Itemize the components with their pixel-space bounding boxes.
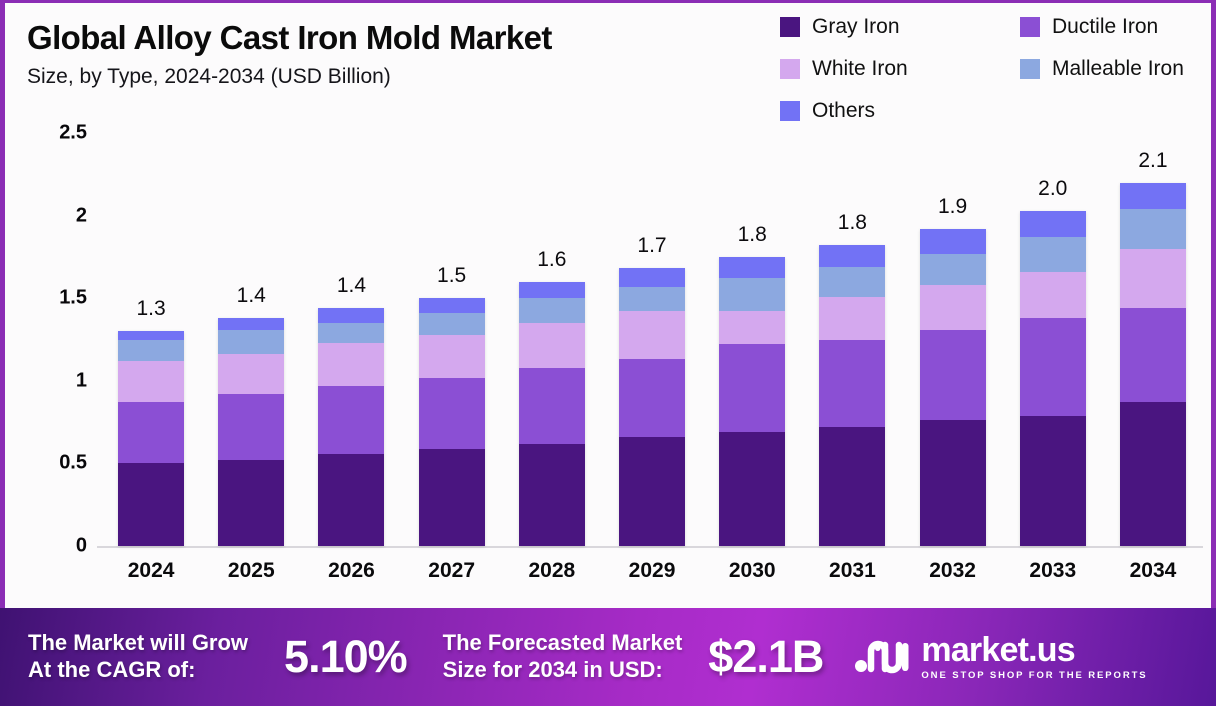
stacked-bar[interactable] [519, 282, 585, 546]
y-axis-tick-label: 1.5 [13, 287, 87, 310]
x-axis-line [97, 546, 1203, 548]
bar-segment-gray-iron[interactable] [1020, 416, 1086, 547]
bar-segment-white-iron[interactable] [218, 354, 284, 394]
bar-segment-malleable-iron[interactable] [419, 313, 485, 334]
bar-segment-malleable-iron[interactable] [1020, 237, 1086, 272]
bar-segment-malleable-iron[interactable] [719, 278, 785, 311]
bar-segment-others[interactable] [1020, 211, 1086, 237]
bar-segment-others[interactable] [819, 245, 885, 266]
bar-segment-malleable-iron[interactable] [318, 323, 384, 343]
x-axis-label-2027: 2027 [402, 559, 502, 583]
y-axis-tick-label: 2.5 [13, 122, 87, 145]
bar-segment-gray-iron[interactable] [920, 420, 986, 546]
x-axis-label-2026: 2026 [301, 559, 401, 583]
bar-segment-gray-iron[interactable] [318, 454, 384, 547]
x-axis-label-2034: 2034 [1103, 559, 1203, 583]
bar-segment-malleable-iron[interactable] [1120, 209, 1186, 249]
bar-segment-ductile-iron[interactable] [519, 368, 585, 444]
bar-group-2032[interactable]: 1.9 [903, 133, 1003, 546]
bar-segment-malleable-iron[interactable] [619, 287, 685, 312]
stacked-bar[interactable] [1120, 183, 1186, 546]
bar-segment-malleable-iron[interactable] [819, 267, 885, 297]
infographic-root: Global Alloy Cast Iron Mold Market Size,… [0, 0, 1216, 706]
stacked-bar[interactable] [920, 229, 986, 546]
bar-segment-ductile-iron[interactable] [1120, 308, 1186, 402]
bar-segment-others[interactable] [118, 331, 184, 339]
x-axis-label-2028: 2028 [502, 559, 602, 583]
bar-value-label: 1.8 [802, 211, 902, 235]
market-us-logo-text: market.us ONE STOP SHOP FOR THE REPORTS [921, 633, 1147, 681]
bar-segment-white-iron[interactable] [1020, 272, 1086, 318]
logo-tagline: ONE STOP SHOP FOR THE REPORTS [921, 670, 1147, 681]
bar-segment-malleable-iron[interactable] [920, 254, 986, 285]
plot-area: 00.511.522.5 1.31.41.41.51.61.71.81.81.9… [5, 3, 1211, 608]
bar-segment-white-iron[interactable] [519, 323, 585, 368]
bar-segment-gray-iron[interactable] [719, 432, 785, 546]
x-axis-label-2032: 2032 [903, 559, 1003, 583]
x-axis-labels: 2024202520262027202820292030203120322033… [101, 559, 1203, 583]
bar-segment-others[interactable] [920, 229, 986, 254]
chart-canvas: Global Alloy Cast Iron Mold Market Size,… [5, 3, 1211, 608]
bar-segment-malleable-iron[interactable] [118, 340, 184, 361]
stacked-bar[interactable] [719, 257, 785, 546]
bar-group-2031[interactable]: 1.8 [802, 133, 902, 546]
y-axis-tick-label: 0.5 [13, 452, 87, 475]
stacked-bar[interactable] [218, 318, 284, 546]
forecast-caption-line1: The Forecasted Market [443, 630, 683, 655]
stacked-bar[interactable] [819, 245, 885, 546]
bar-group-2025[interactable]: 1.4 [201, 133, 301, 546]
bar-segment-ductile-iron[interactable] [419, 378, 485, 449]
y-axis-tick-label: 1 [13, 369, 87, 392]
bar-value-label: 1.5 [402, 264, 502, 288]
bar-segment-white-iron[interactable] [719, 311, 785, 344]
bar-group-2029[interactable]: 1.7 [602, 133, 702, 546]
x-axis-label-2030: 2030 [702, 559, 802, 583]
forecast-caption: The Forecasted Market Size for 2034 in U… [443, 630, 683, 684]
bar-segment-white-iron[interactable] [819, 297, 885, 340]
bar-segment-white-iron[interactable] [118, 361, 184, 402]
bar-group-2026[interactable]: 1.4 [301, 133, 401, 546]
bar-segment-gray-iron[interactable] [118, 463, 184, 546]
bar-segment-gray-iron[interactable] [519, 444, 585, 546]
stacked-bar[interactable] [118, 331, 184, 546]
bar-segment-gray-iron[interactable] [419, 449, 485, 546]
bar-group-2027[interactable]: 1.5 [402, 133, 502, 546]
bar-segment-gray-iron[interactable] [619, 437, 685, 546]
cagr-value: 5.10% [284, 631, 407, 683]
bar-segment-malleable-iron[interactable] [218, 330, 284, 355]
bar-value-label: 1.9 [903, 195, 1003, 219]
market-us-logo[interactable]: market.us ONE STOP SHOP FOR THE REPORTS [853, 633, 1147, 681]
bar-value-label: 1.3 [101, 297, 201, 321]
bar-group-2028[interactable]: 1.6 [502, 133, 602, 546]
cagr-caption-line1: The Market will Grow [28, 630, 248, 655]
bar-segment-others[interactable] [619, 268, 685, 286]
bar-segment-others[interactable] [218, 318, 284, 330]
stacked-bar[interactable] [1020, 211, 1086, 546]
bar-segment-white-iron[interactable] [1120, 249, 1186, 308]
bar-value-label: 1.4 [301, 274, 401, 298]
bar-segment-white-iron[interactable] [318, 343, 384, 386]
bar-segment-ductile-iron[interactable] [819, 340, 885, 428]
logo-name: market.us [921, 631, 1074, 669]
bar-value-label: 1.8 [702, 223, 802, 247]
bar-segment-others[interactable] [719, 257, 785, 278]
stacked-bar[interactable] [419, 298, 485, 546]
bar-segment-ductile-iron[interactable] [1020, 318, 1086, 415]
bar-segment-gray-iron[interactable] [1120, 402, 1186, 546]
x-axis-label-2033: 2033 [1003, 559, 1103, 583]
bar-value-label: 2.0 [1003, 177, 1103, 201]
bar-segment-others[interactable] [419, 298, 485, 313]
bar-segment-white-iron[interactable] [619, 311, 685, 359]
footer-banner: The Market will Grow At the CAGR of: 5.1… [0, 608, 1216, 706]
bar-segment-ductile-iron[interactable] [920, 330, 986, 421]
y-axis-tick-label: 0 [13, 535, 87, 558]
cagr-caption-line2: At the CAGR of: [28, 657, 195, 682]
bar-value-label: 2.1 [1103, 149, 1203, 173]
bar-group-2034[interactable]: 2.1 [1103, 133, 1203, 546]
bar-segment-others[interactable] [1120, 183, 1186, 209]
bar-segment-malleable-iron[interactable] [519, 298, 585, 323]
bar-segment-others[interactable] [318, 308, 384, 323]
x-axis-label-2025: 2025 [201, 559, 301, 583]
forecast-caption-line2: Size for 2034 in USD: [443, 657, 663, 682]
bar-group-2030[interactable]: 1.8 [702, 133, 802, 546]
bar-segment-ductile-iron[interactable] [318, 386, 384, 454]
bar-series-group: 1.31.41.41.51.61.71.81.81.92.02.1 [101, 133, 1203, 546]
bar-segment-ductile-iron[interactable] [619, 359, 685, 437]
bar-value-label: 1.6 [502, 248, 602, 272]
bar-value-label: 1.7 [602, 234, 702, 258]
market-us-logo-icon [853, 635, 911, 679]
x-axis-label-2029: 2029 [602, 559, 702, 583]
stacked-bar[interactable] [619, 268, 685, 546]
cagr-caption: The Market will Grow At the CAGR of: [28, 630, 248, 684]
bar-segment-gray-iron[interactable] [819, 427, 885, 546]
forecast-value: $2.1B [708, 631, 823, 683]
bar-segment-ductile-iron[interactable] [118, 402, 184, 463]
bar-group-2033[interactable]: 2.0 [1003, 133, 1103, 546]
y-axis-tick-label: 2 [13, 204, 87, 227]
stacked-bar[interactable] [318, 308, 384, 546]
bar-segment-ductile-iron[interactable] [218, 394, 284, 460]
bar-group-2024[interactable]: 1.3 [101, 133, 201, 546]
x-axis-label-2031: 2031 [802, 559, 902, 583]
bar-segment-gray-iron[interactable] [218, 460, 284, 546]
bar-segment-others[interactable] [519, 282, 585, 299]
bar-value-label: 1.4 [201, 284, 301, 308]
x-axis-label-2024: 2024 [101, 559, 201, 583]
bar-segment-ductile-iron[interactable] [719, 344, 785, 432]
bar-segment-white-iron[interactable] [920, 285, 986, 330]
bar-segment-white-iron[interactable] [419, 335, 485, 378]
